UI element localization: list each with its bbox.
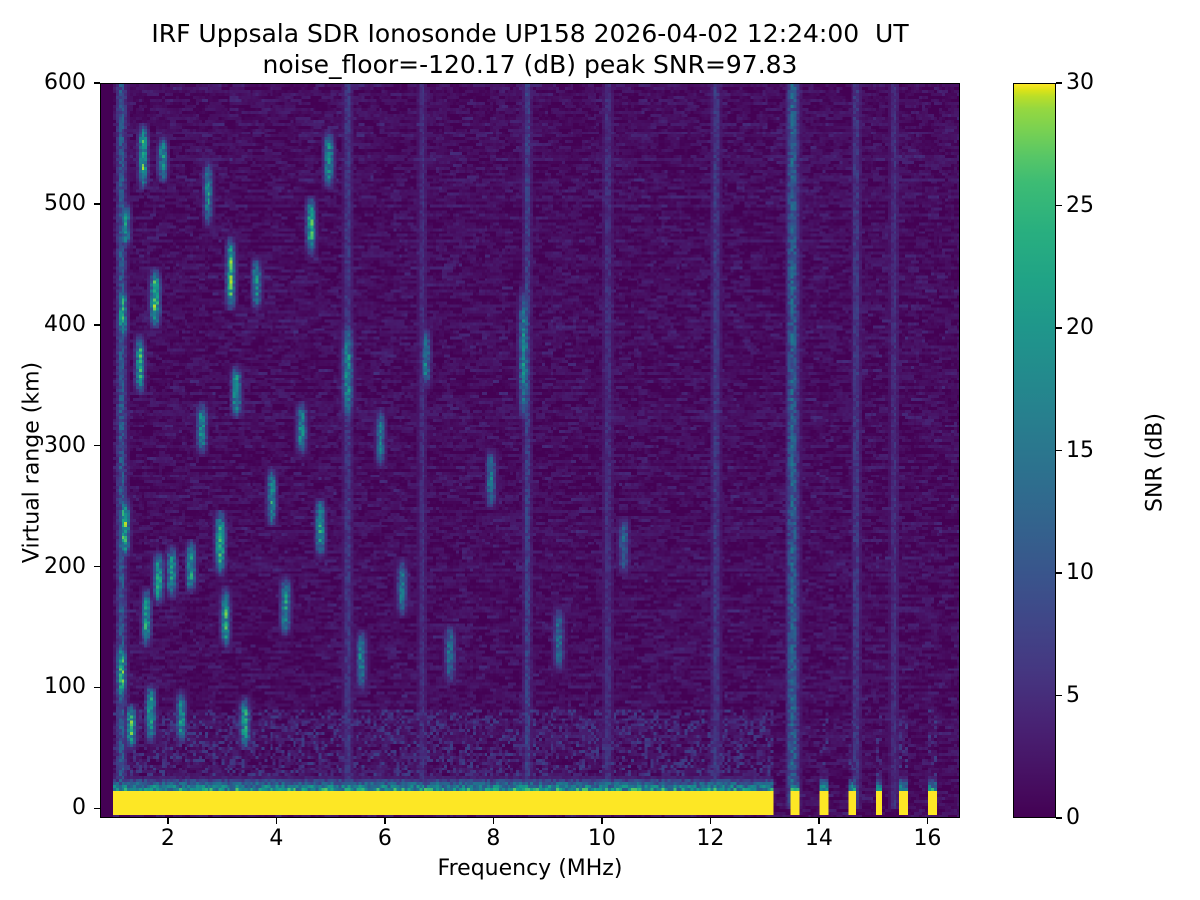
y-tick-label: 500	[0, 193, 86, 215]
ionogram-heatmap	[101, 84, 959, 817]
x-tick-label: 12	[680, 828, 740, 850]
colorbar-tick-mark	[1056, 572, 1062, 574]
x-tick-label: 6	[355, 828, 415, 850]
title-line-1: IRF Uppsala SDR Ionosonde UP158 2026-04-…	[0, 18, 1060, 49]
y-tick-mark	[94, 203, 100, 205]
ionogram-plot-area	[100, 83, 960, 818]
x-tick-mark	[384, 818, 386, 824]
colorbar-tick-label: 5	[1066, 685, 1126, 707]
x-tick-mark	[927, 818, 929, 824]
colorbar-tick-label: 15	[1066, 440, 1126, 462]
colorbar-label: SNR (dB)	[1143, 313, 1168, 613]
x-tick-mark	[276, 818, 278, 824]
x-tick-label: 2	[138, 828, 198, 850]
colorbar-tick-mark	[1056, 205, 1062, 207]
colorbar-tick-mark	[1056, 82, 1062, 84]
colorbar-tick-mark	[1056, 450, 1062, 452]
title-line-2: noise_floor=-120.17 (dB) peak SNR=97.83	[0, 49, 1060, 80]
y-tick-label: 600	[0, 72, 86, 94]
y-tick-mark	[94, 324, 100, 326]
x-tick-label: 14	[789, 828, 849, 850]
page-title: IRF Uppsala SDR Ionosonde UP158 2026-04-…	[0, 18, 1060, 80]
y-tick-mark	[94, 82, 100, 84]
y-tick-label: 0	[0, 797, 86, 819]
colorbar-tick-label: 10	[1066, 562, 1126, 584]
x-tick-mark	[493, 818, 495, 824]
y-tick-mark	[94, 687, 100, 689]
colorbar-tick-mark	[1056, 327, 1062, 329]
x-tick-mark	[167, 818, 169, 824]
colorbar-tick-label: 20	[1066, 317, 1126, 339]
colorbar-tick-label: 30	[1066, 72, 1126, 94]
x-tick-mark	[818, 818, 820, 824]
y-tick-mark	[94, 808, 100, 810]
x-axis-label: Frequency (MHz)	[100, 856, 960, 881]
x-tick-label: 10	[572, 828, 632, 850]
colorbar-tick-mark	[1056, 695, 1062, 697]
y-axis-label: Virtual range (km)	[20, 313, 45, 613]
x-tick-mark	[710, 818, 712, 824]
colorbar-tick-label: 25	[1066, 195, 1126, 217]
x-tick-label: 4	[246, 828, 306, 850]
x-tick-label: 16	[897, 828, 957, 850]
x-tick-mark	[601, 818, 603, 824]
colorbar-tick-mark	[1056, 817, 1062, 819]
x-tick-label: 8	[463, 828, 523, 850]
y-tick-label: 100	[0, 676, 86, 698]
colorbar	[1013, 83, 1056, 818]
ionogram-figure: IRF Uppsala SDR Ionosonde UP158 2026-04-…	[0, 0, 1200, 900]
y-tick-mark	[94, 445, 100, 447]
y-tick-mark	[94, 566, 100, 568]
colorbar-tick-label: 0	[1066, 807, 1126, 829]
